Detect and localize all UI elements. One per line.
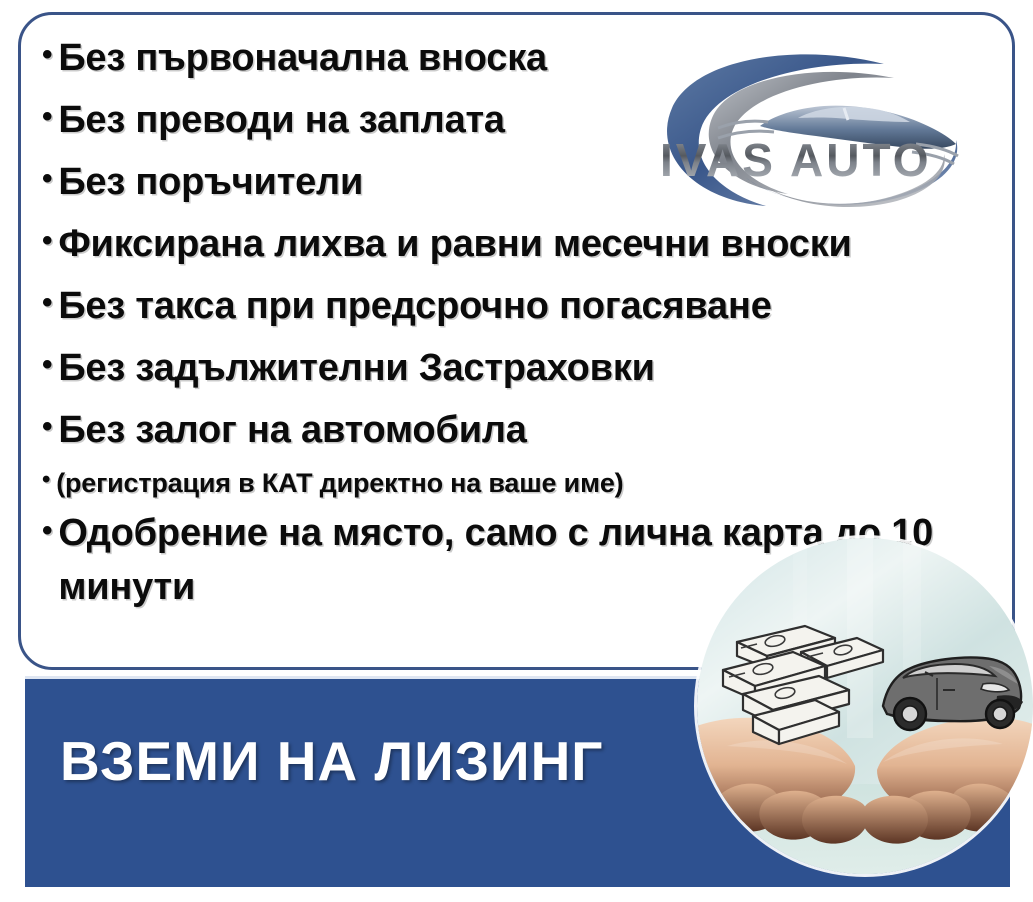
list-item: • Без такса при предсрочно погасяване — [42, 278, 1008, 334]
logo-wordmark: IVAS AUTO — [660, 134, 932, 186]
bullet-dot-icon: • — [42, 102, 52, 132]
list-item: • Без залог на автомобила — [42, 402, 1008, 458]
list-item-label: (регистрация в КАТ директно на ваше име) — [56, 460, 1008, 506]
bullet-dot-icon: • — [42, 226, 52, 256]
bullet-dot-icon: • — [42, 516, 52, 546]
bullet-dot-icon: • — [42, 468, 50, 492]
list-item-label: Фиксирана лихва и равни месечни вноски — [58, 216, 1008, 272]
list-item-label: Без задължителни Застраховки — [58, 340, 1008, 396]
ivas-auto-logo: IVAS AUTO — [648, 48, 974, 216]
bullet-dot-icon: • — [42, 288, 52, 318]
photo-inner — [697, 538, 1033, 874]
list-item: • (регистрация в КАТ директно на ваше им… — [42, 460, 1008, 506]
bullet-dot-icon: • — [42, 164, 52, 194]
bullet-dot-icon: • — [42, 40, 52, 70]
list-item: • Без задължителни Застраховки — [42, 340, 1008, 396]
list-item-label: Без залог на автомобила — [58, 402, 1008, 458]
bullet-dot-icon: • — [42, 412, 52, 442]
list-item-label: Без такса при предсрочно погасяване — [58, 278, 1008, 334]
leasing-advertisement-poster: • Без първоначална вноска • Без преводи … — [0, 0, 1033, 902]
list-item: • Фиксирана лихва и равни месечни вноски — [42, 216, 1008, 272]
bullet-dot-icon: • — [42, 350, 52, 380]
hands-money-car-photo — [697, 538, 1033, 874]
cta-headline: ВЗЕМИ НА ЛИЗИНГ — [60, 730, 604, 792]
